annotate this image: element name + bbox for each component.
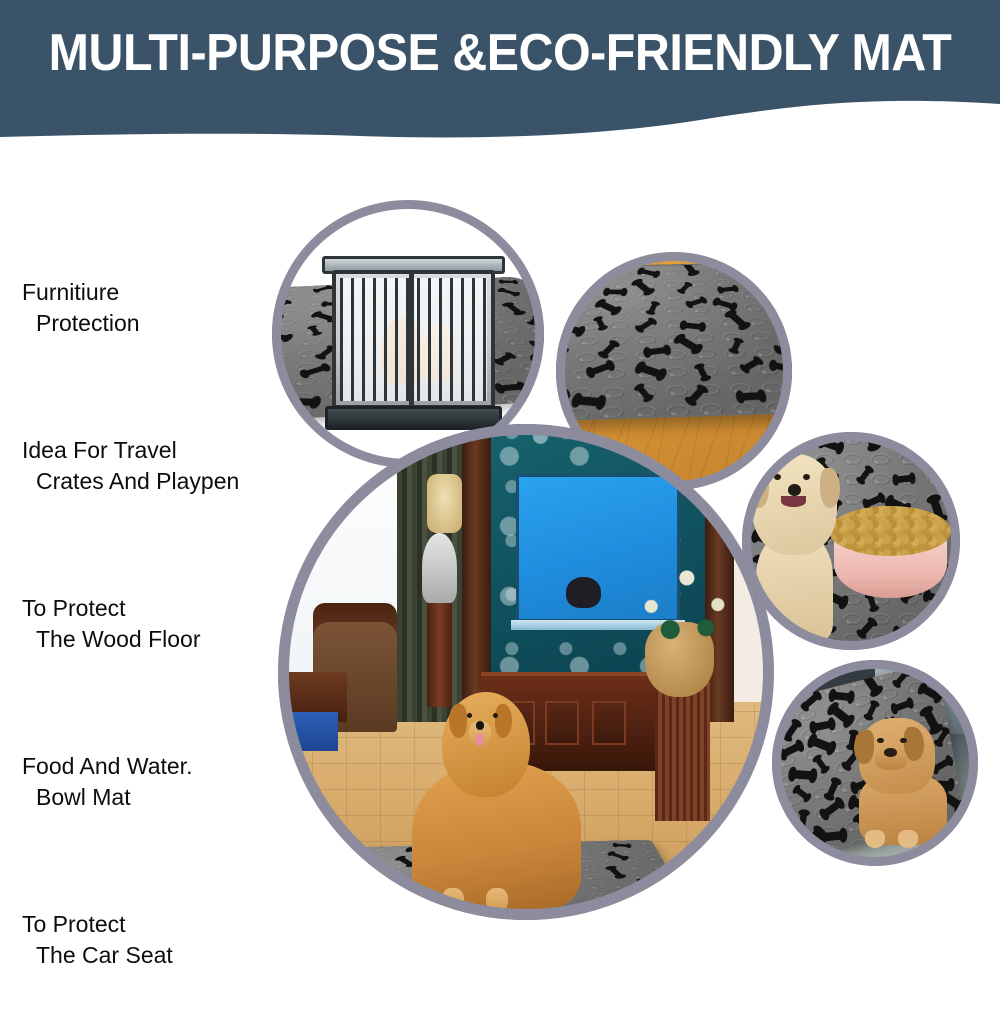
bone-glyph [781,741,803,757]
bone-glyph [599,268,616,276]
bone-glyph [932,461,953,480]
bone-glyph [272,333,291,340]
bone-glyph [788,378,792,399]
bone-glyph [894,475,913,484]
bone-glyph [606,289,626,294]
bone-pattern [556,263,792,420]
retriever-at-bowl [746,454,846,641]
bone-glyph [496,354,515,365]
bone-glyph [496,916,507,920]
bone-glyph [777,316,790,327]
bone-glyph [573,910,590,918]
bone-glyph [647,303,658,314]
bone-glyph [759,278,779,289]
bone-glyph [595,318,606,330]
bone-glyph [791,769,815,779]
bone-glyph [714,299,735,309]
bone-glyph [637,364,664,379]
bone-glyph [408,917,431,920]
dog-crate [332,270,495,409]
bone-glyph [639,269,658,277]
bone-glyph [636,385,652,401]
photo-car-seat [772,660,978,866]
bone-glyph [820,438,842,452]
bone-glyph [798,811,808,830]
bone-glyph [682,323,703,330]
bone-glyph [504,303,523,314]
bone-glyph [894,670,909,686]
bone-glyph [558,324,583,335]
bone-glyph [679,283,691,293]
bone-glyph [564,285,581,296]
bone-glyph [608,866,624,877]
bone-glyph [676,336,700,353]
bone-glyph [351,864,369,867]
statue-bust [422,533,457,602]
bone-glyph [286,398,318,406]
bone-glyph [532,338,544,345]
bone-glyph [556,342,567,355]
bone-glyph [600,342,618,357]
bone-glyph [831,691,852,700]
bone-glyph [812,719,833,730]
bone-glyph [696,365,709,380]
bone-glyph [529,317,540,325]
bone-glyph [719,286,737,292]
bone-glyph [501,280,517,283]
flower-arrangement [625,553,744,642]
bone-glyph [920,684,941,700]
bone-glyph [858,467,872,483]
bone-glyph [826,779,840,799]
photo-circle-group [0,0,1000,946]
bone-glyph [938,440,957,450]
bone-glyph [861,432,878,450]
bone-glyph [310,326,321,335]
bone-glyph [280,862,296,870]
bone-glyph [727,312,748,329]
bone-glyph [802,692,820,709]
bone-glyph [497,384,524,392]
bone-glyph [738,392,763,401]
bone-glyph [575,396,604,407]
bone-glyph [762,268,778,273]
bone-glyph [748,432,758,446]
bone-glyph [278,875,283,881]
bone-glyph [622,912,642,918]
bone-glyph [742,358,762,372]
bone-glyph [892,699,911,712]
photo-living-room [278,424,774,920]
bone-glyph [327,917,348,920]
bone-glyph [859,619,876,637]
table-lamp [427,474,462,534]
bone-glyph [533,356,544,363]
bone-glyph [865,702,877,719]
bone-glyph [810,736,834,752]
bone-glyph [731,339,742,352]
bone-glyph [923,669,941,677]
bone-glyph [681,262,697,275]
bone-glyph [925,592,947,605]
bone-glyph [272,314,281,321]
bone-glyph [782,434,801,448]
bulldog-puppy [854,718,957,846]
wood-floor-mat [556,262,792,422]
living-room-scene [278,424,774,920]
bone-glyph [272,286,281,292]
bone-glyph [338,873,358,882]
bone-glyph [637,319,655,331]
bone-glyph [339,848,355,854]
bone-glyph [303,365,329,377]
bone-glyph [687,386,706,404]
bone-glyph [278,891,297,898]
bone-glyph [775,343,792,353]
bone-glyph [687,298,705,307]
bone-glyph [723,265,736,273]
bone-glyph [772,362,792,373]
photo-food-bowl [742,432,960,650]
bone-glyph [822,799,843,818]
golden-retriever [412,692,581,910]
bone-glyph [588,363,612,377]
bone-glyph [556,390,568,409]
bone-glyph [760,297,778,313]
bone-glyph [562,266,572,275]
bone-glyph [273,301,290,309]
bone-glyph [821,830,844,841]
bone-glyph [934,613,956,635]
bone-glyph [343,903,359,913]
bone-glyph [795,786,811,800]
bone-glyph [500,289,519,296]
bone-glyph [278,847,282,854]
bone-glyph [556,302,574,310]
bone-glyph [633,280,652,294]
bone-glyph [628,898,646,904]
bone-glyph [315,286,331,292]
bone-glyph [597,301,619,314]
bone-glyph [784,720,800,739]
bone-glyph [896,628,917,636]
bone-glyph [633,879,644,886]
bone-glyph [331,885,340,893]
bone-glyph [646,347,669,356]
infographic-page: MULTI-PURPOSE &ECO-FRIENDLY MAT Furnitiu… [0,0,1000,946]
bone-glyph [615,843,630,846]
bone-glyph [609,852,627,860]
bone-glyph [901,434,917,448]
kibble [829,506,951,556]
